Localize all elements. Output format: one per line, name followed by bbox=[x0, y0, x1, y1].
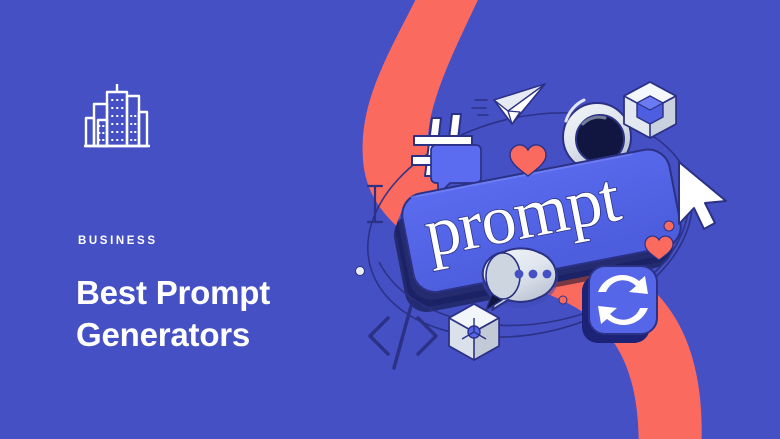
headline-line-2: Generators bbox=[76, 314, 336, 356]
refresh-icon bbox=[582, 266, 657, 343]
promo-banner: prompt bbox=[0, 0, 780, 439]
headline-line-1: Best Prompt bbox=[76, 272, 336, 314]
dot-decor-mid bbox=[559, 296, 567, 304]
dot-decor-right bbox=[664, 221, 674, 231]
page-title: Best Prompt Generators bbox=[76, 272, 336, 356]
city-buildings-icon bbox=[76, 72, 158, 150]
text-column: BUSINESS Best Prompt Generators bbox=[0, 0, 340, 439]
category-eyebrow: BUSINESS bbox=[78, 236, 158, 248]
dot-decor-left bbox=[356, 267, 365, 276]
